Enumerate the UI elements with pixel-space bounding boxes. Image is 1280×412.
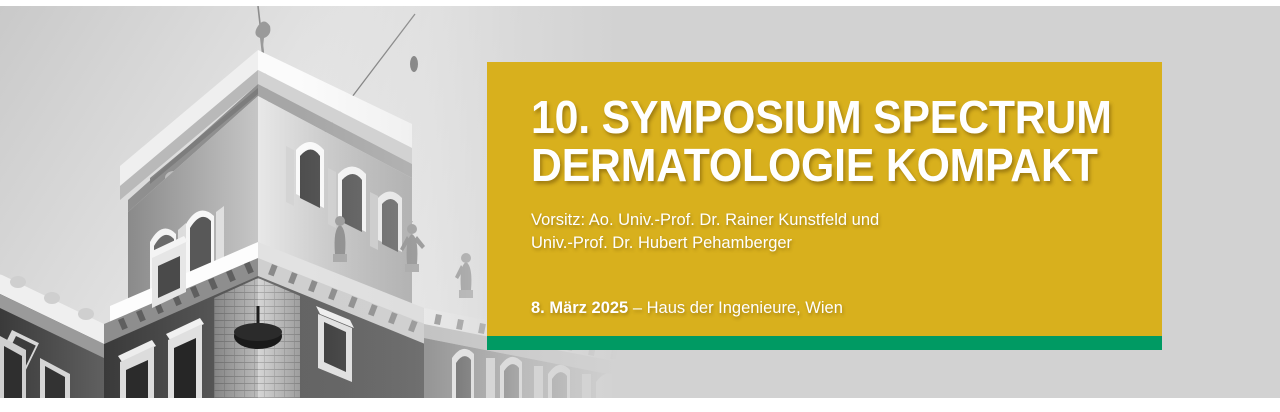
chairperson-line-1: Vorsitz: Ao. Univ.-Prof. Dr. Rainer Kuns… (531, 209, 1151, 232)
event-dateline: 8. März 2025 – Haus der Ingenieure, Wien (531, 255, 1151, 319)
chairpersons: Vorsitz: Ao. Univ.-Prof. Dr. Rainer Kuns… (531, 189, 1151, 255)
event-date: 8. März 2025 (531, 299, 628, 317)
green-accent-bar (487, 336, 1162, 350)
dateline-dash: – (633, 299, 642, 317)
chairperson-line-2: Univ.-Prof. Dr. Hubert Pehamberger (531, 232, 1151, 255)
event-title-line-1: 10. SYMPOSIUM SPECTRUM (531, 93, 1108, 141)
event-venue: Haus der Ingenieure, Wien (647, 299, 843, 317)
event-title-line-2: DERMATOLOGIE KOMPAKT (531, 141, 1108, 189)
event-banner: 10. SYMPOSIUM SPECTRUM DERMATOLOGIE KOMP… (0, 0, 1280, 412)
banner-text-block: 10. SYMPOSIUM SPECTRUM DERMATOLOGIE KOMP… (531, 93, 1151, 319)
event-title: 10. SYMPOSIUM SPECTRUM DERMATOLOGIE KOMP… (531, 93, 1108, 189)
